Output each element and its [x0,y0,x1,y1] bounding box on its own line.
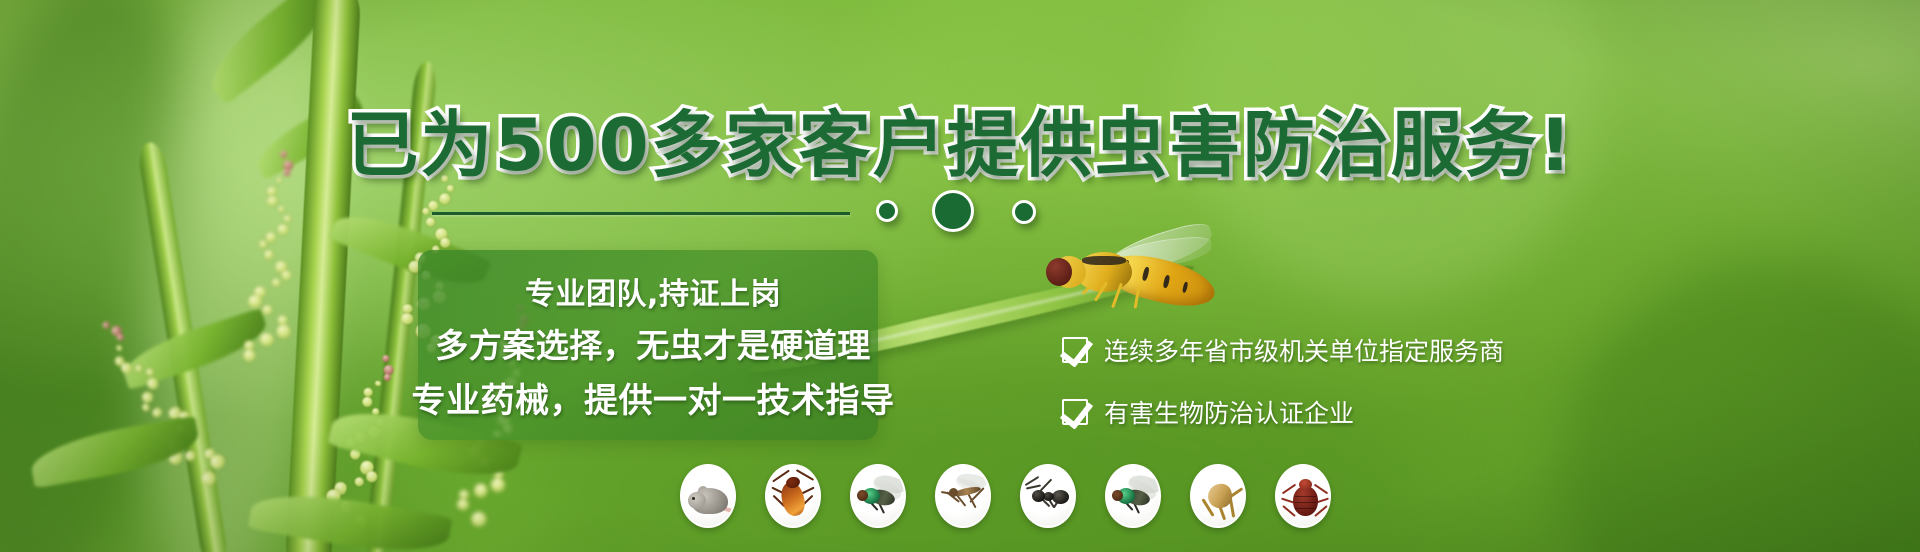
pest-icon-row [680,464,1331,528]
hoverfly-band [1182,281,1189,293]
credential-label: 有害生物防治认证企业 [1104,394,1354,430]
hoverfly-eye [1046,258,1072,286]
promo-banner: 已为500多家客户提供虫害防治服务! 专业团队,持证上岗 多方案选择，无虫才是硬… [0,0,1920,552]
mosquito-icon[interactable] [935,464,991,528]
page-title: 已为500多家客户提供虫害防治服务! [0,86,1920,191]
credential-label: 连续多年省市级机关单位指定服务商 [1104,332,1504,368]
selling-point-line: 专业药械，提供一对一技术指导 [412,373,895,422]
selling-point-line: 专业团队,持证上岗 [525,269,781,313]
rodent-icon[interactable] [680,464,736,528]
fly-icon[interactable] [850,464,906,528]
decor-dot-small-left [876,200,898,222]
hoverfly-band [1163,274,1171,288]
hoverfly-photo [1030,238,1220,324]
checkbox-check-icon [1062,337,1088,363]
credential-row: 连续多年省市级机关单位指定服务商 [1062,332,1582,368]
flea-icon[interactable] [1190,464,1246,528]
selling-points-list: 专业团队,持证上岗 多方案选择，无虫才是硬道理 专业药械，提供一对一技术指导 [418,250,888,440]
ant-icon[interactable] [1020,464,1076,528]
checkbox-check-icon [1062,399,1088,425]
fly-icon[interactable] [1105,464,1161,528]
selling-point-line: 多方案选择，无虫才是硬道理 [435,319,871,367]
credential-row: 有害生物防治认证企业 [1062,394,1582,430]
decor-dot-large [932,190,974,232]
bedbug-icon[interactable] [1275,464,1331,528]
cockroach-icon[interactable] [765,464,821,528]
hoverfly-band [1142,267,1150,282]
horizontal-rule [432,212,850,215]
credentials-list: 连续多年省市级机关单位指定服务商 有害生物防治认证企业 [1062,332,1582,430]
decor-dot-small-right [1012,200,1036,224]
